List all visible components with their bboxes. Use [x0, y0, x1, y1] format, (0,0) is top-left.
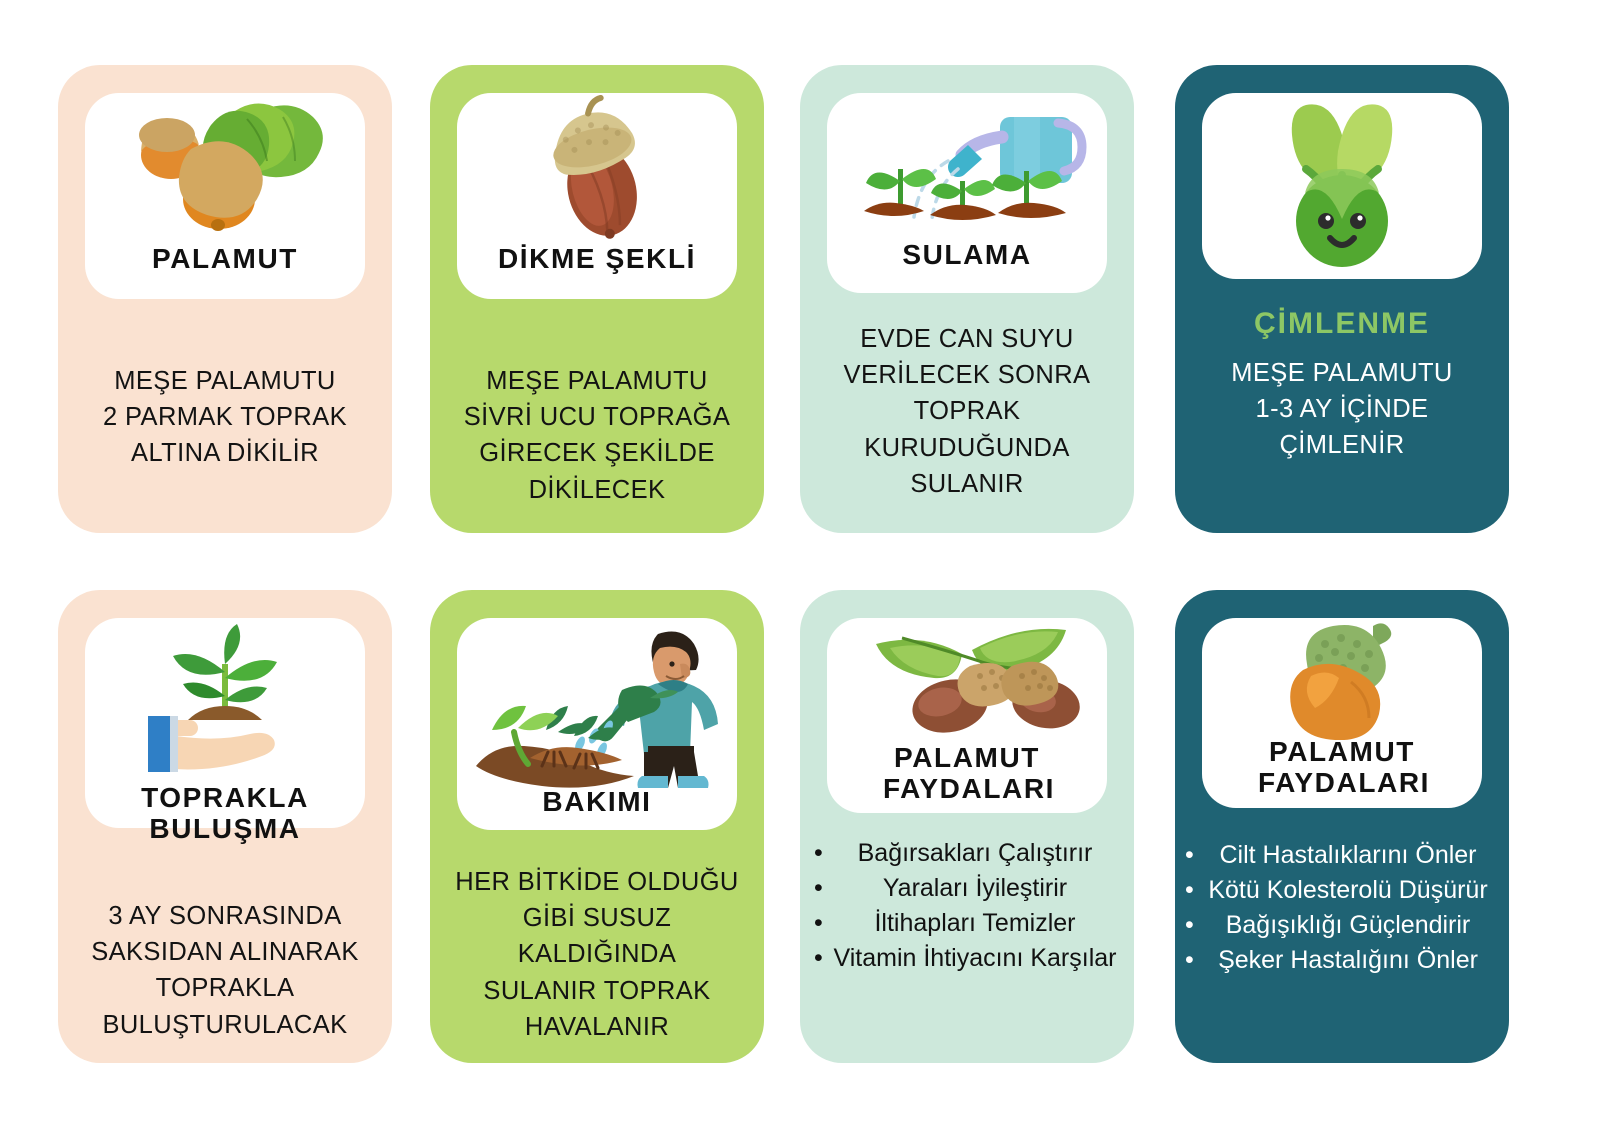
- card-title: PALAMUT: [85, 243, 365, 274]
- body-line: MEŞE PALAMUTU: [76, 363, 374, 399]
- card-title: PALAMUT FAYDALARI: [827, 742, 1107, 805]
- gardener-watering-icon: [457, 618, 737, 790]
- body-line: SAKSIDAN ALINARAK: [76, 934, 374, 970]
- acorn-with-oak-leaves-icon: [85, 93, 365, 245]
- body-line: MEŞE PALAMUTU: [448, 363, 746, 399]
- body-line: MEŞE PALAMUTU: [1193, 355, 1491, 391]
- list-item: Bağırsakları Çalıştırır: [826, 836, 1118, 871]
- body-line: SULANIR TOPRAK: [440, 973, 754, 1009]
- card-palamut: PALAMUT MEŞE PALAMUTU 2 PARMAK TOPRAK AL…: [58, 65, 392, 533]
- card-panel: SULAMA: [827, 93, 1107, 293]
- infographic-board: PALAMUT MEŞE PALAMUTU 2 PARMAK TOPRAK AL…: [0, 0, 1600, 1131]
- card-panel: PALAMUT FAYDALARI: [827, 618, 1107, 813]
- list-item: Bağışıklığı Güçlendirir: [1195, 908, 1495, 943]
- list-item: İltihapları Temizler: [826, 906, 1118, 941]
- body-line: SULANIR: [818, 466, 1116, 502]
- card-panel: BAKIMI: [457, 618, 737, 830]
- card-body: EVDE CAN SUYU VERİLECEK SONRA TOPRAK KUR…: [818, 321, 1116, 502]
- card-panel: [1202, 93, 1482, 279]
- card-bakimi: BAKIMI HER BİTKİDE OLDUĞU GİBİ SUSUZ KAL…: [430, 590, 764, 1063]
- card-palamut-faydalari-teal: PALAMUT FAYDALARI Cilt Hastalıklarını Ön…: [1175, 590, 1509, 1063]
- card-title: BAKIMI: [457, 786, 737, 817]
- list-item: Şeker Hastalığını Önler: [1195, 943, 1495, 978]
- card-title: SULAMA: [827, 239, 1107, 270]
- card-panel: PALAMUT FAYDALARI: [1202, 618, 1482, 808]
- card-cimlenme: ÇİMLENME MEŞE PALAMUTU 1-3 AY İÇİNDE ÇİM…: [1175, 65, 1509, 533]
- body-line: HER BİTKİDE OLDUĞU: [440, 864, 754, 900]
- card-dikme-sekli: DİKME ŞEKLİ MEŞE PALAMUTU SİVRİ UCU TOPR…: [430, 65, 764, 533]
- list-item: Kötü Kolesterolü Düşürür: [1195, 873, 1495, 908]
- body-line: VERİLECEK SONRA: [818, 357, 1116, 393]
- single-acorn-icon: [457, 93, 737, 245]
- list-item: Vitamin İhtiyacını Karşılar: [826, 941, 1118, 976]
- card-sulama: SULAMA EVDE CAN SUYU VERİLECEK SONRA TOP…: [800, 65, 1134, 533]
- body-line: 2 PARMAK TOPRAK: [76, 399, 374, 435]
- body-line: EVDE CAN SUYU: [818, 321, 1116, 357]
- body-line: SİVRİ UCU TOPRAĞA: [448, 399, 746, 435]
- card-body: MEŞE PALAMUTU 1-3 AY İÇİNDE ÇİMLENİR: [1193, 355, 1491, 464]
- card-panel: DİKME ŞEKLİ: [457, 93, 737, 299]
- benefits-list: Bağırsakları Çalıştırır Yaraları İyileşt…: [826, 836, 1118, 976]
- benefits-list: Cilt Hastalıklarını Önler Kötü Kolestero…: [1195, 838, 1495, 978]
- green-cap-acorn-icon: [1202, 618, 1482, 740]
- smiling-sprout-seed-icon: [1202, 93, 1482, 271]
- card-title: TOPRAKLA BULUŞMA: [85, 782, 365, 845]
- body-line: KURUDUĞUNDA: [818, 430, 1116, 466]
- card-body: MEŞE PALAMUTU 2 PARMAK TOPRAK ALTINA DİK…: [76, 363, 374, 472]
- list-item: Cilt Hastalıklarını Önler: [1195, 838, 1495, 873]
- body-line: GİRECEK ŞEKİLDE: [448, 435, 746, 471]
- body-line: HAVALANIR: [440, 1009, 754, 1045]
- card-title: ÇİMLENME: [1175, 307, 1509, 341]
- body-line: TOPRAKLA: [76, 970, 374, 1006]
- two-acorns-branch-icon: [827, 618, 1107, 746]
- card-title: DİKME ŞEKLİ: [457, 243, 737, 274]
- card-palamut-faydalari-mint: PALAMUT FAYDALARI Bağırsakları Çalıştırı…: [800, 590, 1134, 1063]
- card-toprakla-bulusma: TOPRAKLA BULUŞMA 3 AY SONRASINDA SAKSIDA…: [58, 590, 392, 1063]
- body-line: 3 AY SONRASINDA: [76, 898, 374, 934]
- card-panel: PALAMUT: [85, 93, 365, 299]
- body-line: BULUŞTURULACAK: [76, 1007, 374, 1043]
- body-line: DİKİLECEK: [448, 472, 746, 508]
- card-body: HER BİTKİDE OLDUĞU GİBİ SUSUZ KALDIĞINDA…: [440, 864, 754, 1045]
- card-panel: TOPRAKLA BULUŞMA: [85, 618, 365, 828]
- card-title: PALAMUT FAYDALARI: [1202, 736, 1482, 799]
- card-body: 3 AY SONRASINDA SAKSIDAN ALINARAK TOPRAK…: [76, 898, 374, 1043]
- hand-holding-seedling-icon: [85, 618, 365, 788]
- body-line: GİBİ SUSUZ KALDIĞINDA: [440, 900, 754, 972]
- body-line: TOPRAK: [818, 393, 1116, 429]
- watering-can-seedlings-icon: [827, 93, 1107, 241]
- body-line: ALTINA DİKİLİR: [76, 435, 374, 471]
- body-line: ÇİMLENİR: [1193, 427, 1491, 463]
- body-line: 1-3 AY İÇİNDE: [1193, 391, 1491, 427]
- list-item: Yaraları İyileştirir: [826, 871, 1118, 906]
- card-body: MEŞE PALAMUTU SİVRİ UCU TOPRAĞA GİRECEK …: [448, 363, 746, 508]
